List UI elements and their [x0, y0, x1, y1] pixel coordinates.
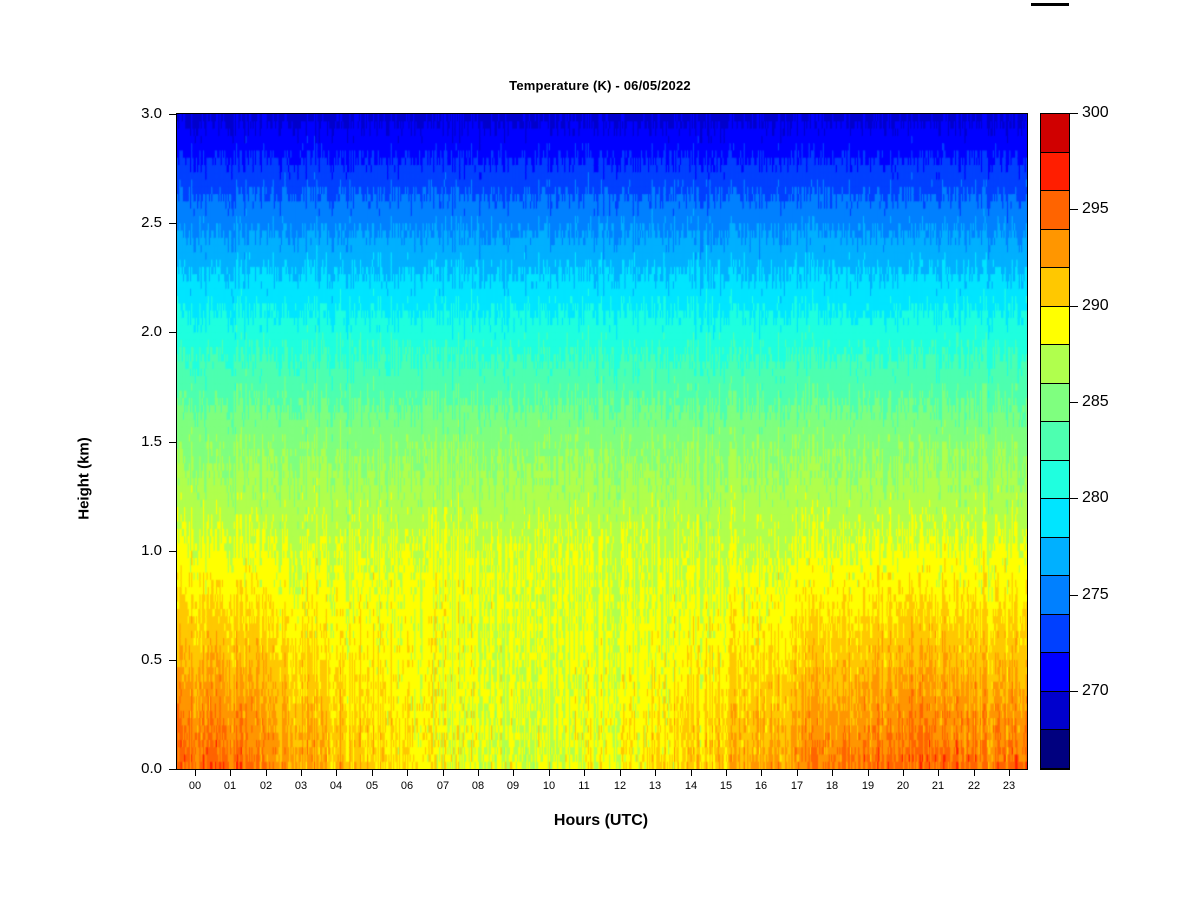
x-tick	[691, 769, 692, 776]
y-tick-label: 2.0	[120, 324, 162, 339]
y-tick	[169, 223, 176, 224]
colorbar-tick	[1070, 113, 1078, 114]
colorbar	[1040, 113, 1070, 770]
x-tick	[974, 769, 975, 776]
x-tick	[938, 769, 939, 776]
x-tick-label: 03	[286, 780, 316, 792]
colorbar-tick	[1070, 498, 1078, 499]
colorbar-tick	[1070, 402, 1078, 403]
x-tick-label: 02	[251, 780, 281, 792]
x-tick	[1009, 769, 1010, 776]
x-tick	[266, 769, 267, 776]
x-tick	[797, 769, 798, 776]
colorbar-tick	[1070, 691, 1078, 692]
y-tick	[169, 660, 176, 661]
x-tick-label: 21	[923, 780, 953, 792]
y-axis-tick-labels: 0.00.51.01.52.02.53.0	[110, 0, 162, 900]
x-tick	[195, 769, 196, 776]
y-tick	[169, 769, 176, 770]
colorbar-band	[1041, 615, 1069, 654]
x-tick	[868, 769, 869, 776]
x-tick-label: 06	[392, 780, 422, 792]
x-tick-label: 01	[215, 780, 245, 792]
x-tick-label: 18	[817, 780, 847, 792]
x-tick	[513, 769, 514, 776]
y-tick-label: 0.0	[120, 761, 162, 776]
x-tick	[407, 769, 408, 776]
colorbar-band	[1041, 268, 1069, 307]
y-tick	[169, 114, 176, 115]
colorbar-band	[1041, 576, 1069, 615]
x-tick-label: 19	[853, 780, 883, 792]
x-tick	[372, 769, 373, 776]
colorbar-tick-label: 295	[1082, 201, 1109, 217]
x-tick-label: 17	[782, 780, 812, 792]
x-tick	[301, 769, 302, 776]
colorbar-band	[1041, 307, 1069, 346]
colorbar-band	[1041, 538, 1069, 577]
y-tick-label: 1.5	[120, 434, 162, 449]
x-tick-label: 08	[463, 780, 493, 792]
x-tick	[584, 769, 585, 776]
colorbar-tick-label: 300	[1082, 105, 1109, 121]
x-tick	[549, 769, 550, 776]
colorbar-tick	[1070, 595, 1078, 596]
colorbar-band	[1041, 692, 1069, 731]
y-tick-label: 2.5	[120, 215, 162, 230]
x-tick	[336, 769, 337, 776]
colorbar-tick-label: 285	[1082, 394, 1109, 410]
y-tick	[169, 332, 176, 333]
plot-frame	[176, 113, 1028, 770]
colorbar-tick	[1070, 306, 1078, 307]
x-tick-label: 20	[888, 780, 918, 792]
colorbar-band	[1041, 422, 1069, 461]
x-tick-label: 15	[711, 780, 741, 792]
chart-title: Temperature (K) - 06/05/2022	[0, 78, 1200, 93]
x-tick-label: 13	[640, 780, 670, 792]
colorbar-band	[1041, 653, 1069, 692]
colorbar-band	[1041, 730, 1069, 769]
x-tick-label: 12	[605, 780, 635, 792]
x-tick	[761, 769, 762, 776]
colorbar-tick-label: 275	[1082, 587, 1109, 603]
x-axis-title: Hours (UTC)	[376, 812, 826, 830]
x-tick-label: 05	[357, 780, 387, 792]
x-tick	[655, 769, 656, 776]
y-tick	[169, 551, 176, 552]
colorbar-band	[1041, 461, 1069, 500]
x-tick	[478, 769, 479, 776]
x-tick	[230, 769, 231, 776]
colorbar-tick	[1070, 209, 1078, 210]
colorbar-tick-label: 280	[1082, 490, 1109, 506]
y-tick-label: 3.0	[120, 106, 162, 121]
y-axis-title: Height (km)	[76, 389, 93, 569]
x-tick-label: 22	[959, 780, 989, 792]
colorbar-band	[1041, 345, 1069, 384]
x-tick	[903, 769, 904, 776]
x-tick-label: 04	[321, 780, 351, 792]
y-tick	[169, 442, 176, 443]
x-tick-label: 16	[746, 780, 776, 792]
colorbar-band	[1041, 114, 1069, 153]
colorbar-band	[1041, 230, 1069, 269]
x-tick-label: 14	[676, 780, 706, 792]
x-tick	[726, 769, 727, 776]
x-tick	[832, 769, 833, 776]
colorbar-band	[1041, 153, 1069, 192]
chart-figure: Temperature (K) - 06/05/2022 0.00.51.01.…	[0, 0, 1200, 900]
y-tick-label: 1.0	[120, 543, 162, 558]
colorbar-tick-label: 290	[1082, 298, 1109, 314]
x-tick-label: 09	[498, 780, 528, 792]
colorbar-band	[1041, 191, 1069, 230]
x-tick-label: 07	[428, 780, 458, 792]
colorbar-band	[1041, 499, 1069, 538]
x-tick-label: 11	[569, 780, 599, 792]
x-tick-label: 00	[180, 780, 210, 792]
colorbar-tick-label: 270	[1082, 683, 1109, 699]
corner-mark	[1031, 3, 1069, 6]
colorbar-band	[1041, 384, 1069, 423]
x-tick-label: 10	[534, 780, 564, 792]
x-tick-label: 23	[994, 780, 1024, 792]
y-tick-label: 0.5	[120, 652, 162, 667]
x-tick	[620, 769, 621, 776]
x-tick	[443, 769, 444, 776]
